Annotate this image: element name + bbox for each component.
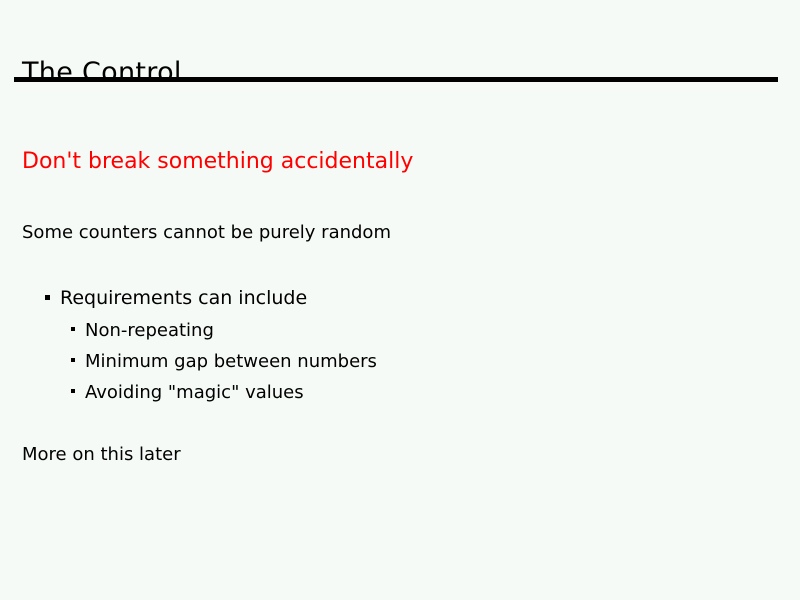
list-item-label: Non-repeating xyxy=(85,315,214,346)
square-bullet-icon xyxy=(71,327,75,331)
square-bullet-icon xyxy=(71,389,75,393)
list-item: Avoiding "magic" values xyxy=(0,376,800,407)
closing-statement: More on this later xyxy=(22,443,181,467)
square-bullet-icon xyxy=(71,358,75,362)
list-item: Requirements can include xyxy=(0,283,800,314)
list-item-label: Minimum gap between numbers xyxy=(85,346,377,377)
list-item-label: Avoiding "magic" values xyxy=(85,377,304,408)
list-item-label: Requirements can include xyxy=(60,283,307,314)
warning-heading: Don't break something accidentally xyxy=(22,148,413,176)
slide-body: Don't break something accidentally Some … xyxy=(0,0,800,600)
list-item: Minimum gap between numbers xyxy=(0,345,800,376)
square-bullet-icon xyxy=(45,295,50,300)
lead-statement: Some counters cannot be purely random xyxy=(22,221,391,245)
presentation-slide: The Control Don't break something accide… xyxy=(0,0,800,600)
bullet-list: Requirements can include Non-repeating M… xyxy=(0,283,800,407)
list-item: Non-repeating xyxy=(0,314,800,345)
